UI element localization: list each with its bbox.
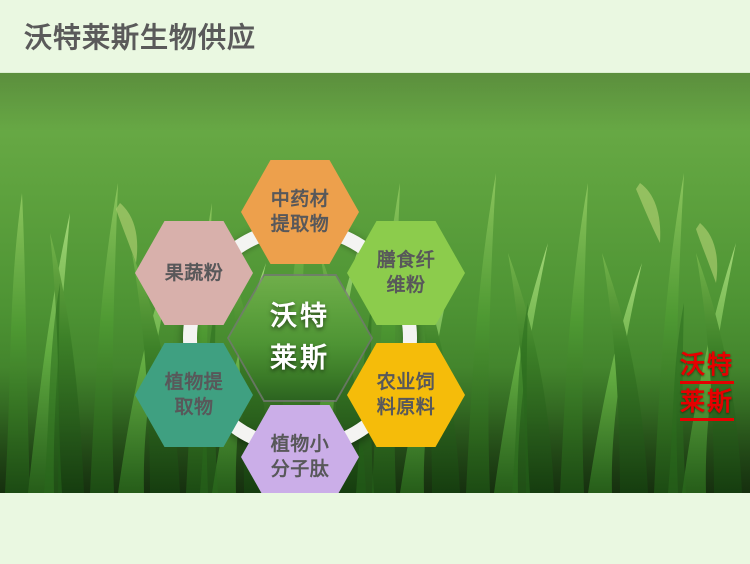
hex-plant-extract-line2: 取物 (154, 395, 234, 420)
header-bar: 沃特莱斯生物供应 (0, 0, 750, 73)
hex-dietary-fiber-line1: 膳食纤 (366, 248, 446, 273)
hex-feed-material-line1: 农业饲 (366, 370, 446, 395)
background-photo: 中药材 提取物 膳食纤 维粉 农业饲 料原料 植物小 分子肽 (0, 73, 750, 493)
hex-plant-peptide-line1: 植物小 (260, 432, 340, 457)
footer-area (0, 493, 750, 564)
center-brand-label: 沃特 莱斯 (227, 274, 373, 402)
hexagon-cluster: 中药材 提取物 膳食纤 维粉 农业饲 料原料 植物小 分子肽 (120, 158, 480, 493)
brand-watermark-line1: 沃特 (680, 349, 734, 384)
hex-tcm-extract-line2: 提取物 (260, 212, 340, 237)
hex-dietary-fiber-line2: 维粉 (366, 273, 446, 298)
center-brand-line2: 莱斯 (253, 338, 348, 380)
hex-plant-peptide-line2: 分子肽 (260, 457, 340, 482)
hex-fruit-veg-powder-line1: 果蔬粉 (154, 261, 234, 286)
brand-watermark-line2: 莱斯 (680, 386, 734, 421)
page-title: 沃特莱斯生物供应 (24, 21, 256, 55)
brand-watermark: 沃特 莱斯 (680, 349, 734, 421)
slide-canvas: 沃特莱斯生物供应 (0, 0, 750, 564)
hex-plant-extract-line1: 植物提 (154, 370, 234, 395)
hex-tcm-extract-line1: 中药材 (260, 187, 340, 212)
center-brand-line1: 沃特 (253, 296, 348, 338)
hex-feed-material-line2: 料原料 (366, 395, 446, 420)
